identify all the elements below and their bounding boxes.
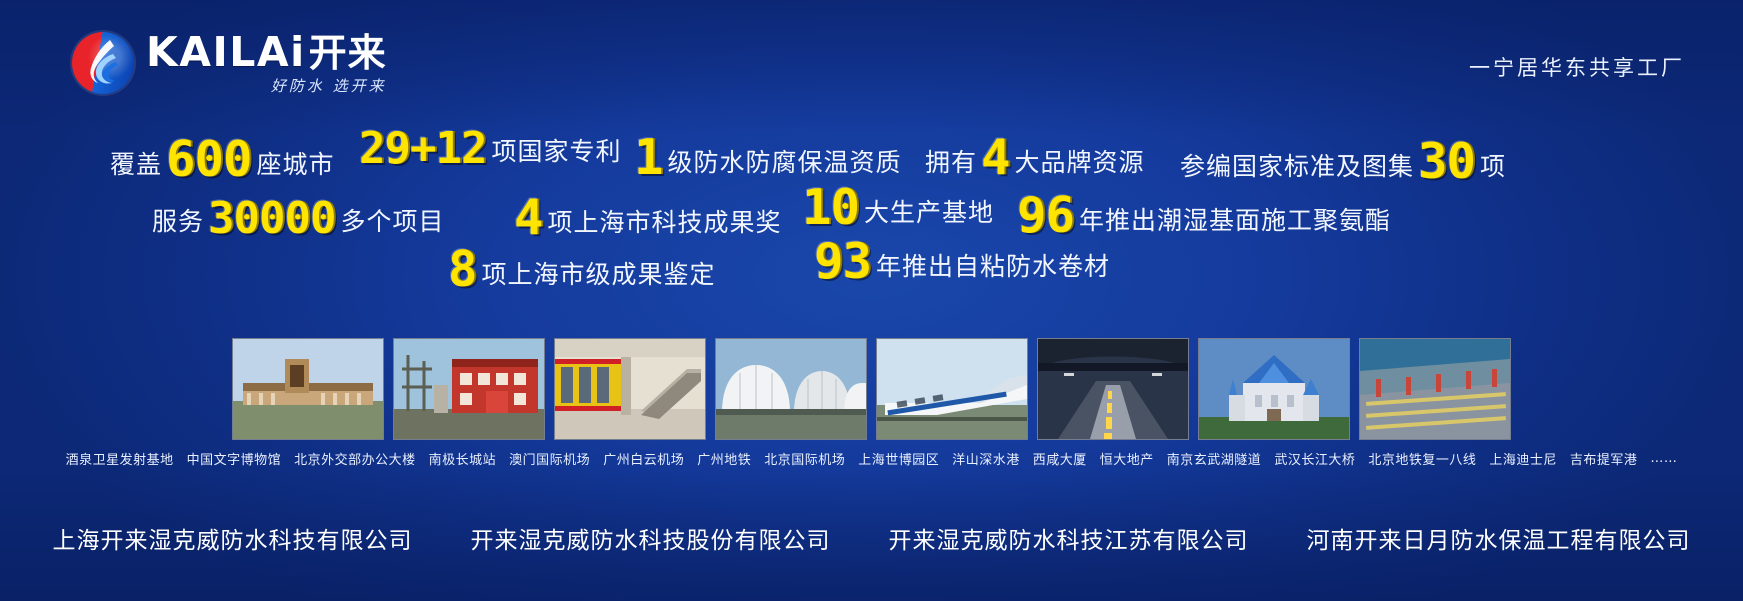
thumbnail-row (0, 338, 1743, 440)
project-caption: 洋山深水港 (952, 449, 1020, 468)
stat-number: 1 (632, 133, 665, 182)
project-caption: 上海迪士尼 (1489, 449, 1557, 468)
stat-suffix: 年推出自粘防水卷材 (876, 247, 1110, 283)
stat-number: 96 (1015, 191, 1076, 240)
stat-item: 29+12项国家专利 (357, 124, 621, 168)
project-caption: 酒泉卫星发射基地 (66, 449, 174, 468)
logo-swoosh-icon (80, 38, 126, 88)
project-thumbnail-disney-castle (1198, 338, 1350, 440)
project-caption: 吉布提军港 (1570, 449, 1638, 468)
stat-suffix: 年推出潮湿基面施工聚氨酯 (1079, 201, 1391, 237)
project-caption: 恒大地产 (1100, 449, 1154, 468)
disney-castle-icon (1199, 339, 1349, 439)
stat-prefix: 覆盖 (110, 145, 162, 181)
high-speed-train-icon (877, 339, 1027, 439)
stat-suffix: 项 (1480, 147, 1506, 183)
stat-item: 参编国家标准及图集30项 (1180, 134, 1506, 183)
company-footer: 上海开来湿克威防水科技有限公司开来湿克威防水科技股份有限公司开来湿克威防水科技江… (0, 521, 1743, 555)
stat-item: 96年推出潮湿基面施工聚氨酯 (1015, 188, 1391, 237)
brand-name-cn: 开来 (309, 34, 387, 72)
stat-number: 4 (979, 133, 1012, 182)
stat-suffix: 项国家专利 (491, 132, 621, 168)
stat-number: 600 (164, 135, 254, 184)
stat-suffix: 级防水防腐保温资质 (668, 143, 902, 179)
stat-number: 29+12 (357, 127, 488, 171)
company-name: 开来湿克威防水科技股份有限公司 (471, 521, 831, 555)
project-gallery: 酒泉卫星发射基地中国文字博物馆北京外交部办公大楼南极长城站澳门国际机场广州白云机… (0, 338, 1743, 468)
company-name: 上海开来湿克威防水科技有限公司 (53, 521, 413, 555)
project-caption: 广州地铁 (697, 449, 751, 468)
project-caption: 北京国际机场 (764, 449, 845, 468)
airport-terminal-roof-icon (716, 339, 866, 439)
project-caption: 南极长城站 (429, 449, 497, 468)
stat-prefix: 拥有 (925, 143, 977, 179)
kailai-circle-logo-icon (72, 32, 134, 94)
brand-name-latin: KAILAi (146, 32, 306, 73)
subway-station-platform-icon (555, 339, 705, 439)
project-thumbnail-jiuquan-satellite-base (232, 338, 384, 440)
stat-number: 10 (800, 183, 861, 232)
stat-item: 覆盖600座城市 (110, 132, 335, 181)
stat-item: 93年推出自粘防水卷材 (812, 234, 1110, 283)
project-thumbnail-high-speed-train (876, 338, 1028, 440)
project-thumbnail-airport-terminal-roof (715, 338, 867, 440)
stat-suffix: 座城市 (257, 145, 335, 181)
stat-item: 拥有4大品牌资源 (925, 130, 1145, 179)
project-caption: 南京玄武湖隧道 (1167, 449, 1262, 468)
promo-banner: KAILAi 开来 好防水 选开来 一宁居华东共享工厂 覆盖600座城市29+1… (0, 0, 1743, 601)
project-thumbnail-deepwater-port (1359, 338, 1511, 440)
stat-number: 30 (1416, 137, 1477, 186)
project-caption: 北京外交部办公大楼 (294, 449, 416, 468)
stat-suffix: 项上海市科技成果奖 (548, 203, 782, 239)
project-thumbnail-red-industrial-building (393, 338, 545, 440)
project-thumbnail-subway-station-platform (554, 338, 706, 440)
brand-logo[interactable]: KAILAi 开来 好防水 选开来 (72, 32, 387, 94)
stat-suffix: 多个项目 (340, 202, 444, 238)
banner-header: KAILAi 开来 好防水 选开来 一宁居华东共享工厂 (0, 0, 1743, 105)
project-caption: …… (1650, 451, 1677, 466)
stat-prefix: 服务 (152, 202, 204, 238)
project-caption: 广州白云机场 (603, 449, 684, 468)
stat-item: 4项上海市科技成果奖 (512, 190, 782, 239)
factory-tag: 一宁居华东共享工厂 (1469, 52, 1685, 82)
stat-suffix: 大品牌资源 (1015, 143, 1145, 179)
jiuquan-satellite-base-icon (233, 339, 383, 439)
brand-slogan: 好防水 选开来 (146, 79, 387, 94)
project-caption: 北京地铁复一八线 (1368, 449, 1476, 468)
stat-prefix: 参编国家标准及图集 (1180, 147, 1414, 183)
stat-number: 4 (512, 193, 545, 242)
stat-suffix: 大生产基地 (864, 193, 994, 229)
stat-item: 服务30000多个项目 (152, 194, 444, 238)
brand-logo-text: KAILAi 开来 好防水 选开来 (146, 32, 387, 94)
project-caption: 武汉长江大桥 (1274, 449, 1355, 468)
stats-group: 覆盖600座城市29+12项国家专利1级防水防腐保温资质拥有4大品牌资源参编国家… (0, 104, 1743, 294)
red-industrial-building-icon (394, 339, 544, 439)
stat-number: 8 (446, 245, 479, 294)
stat-item: 1级防水防腐保温资质 (632, 130, 902, 179)
company-name: 开来湿克威防水科技江苏有限公司 (889, 521, 1249, 555)
stat-item: 10大生产基地 (800, 180, 994, 229)
stat-number: 30000 (206, 197, 337, 241)
project-thumbnail-highway-tunnel (1037, 338, 1189, 440)
highway-tunnel-icon (1038, 339, 1188, 439)
project-caption-row: 酒泉卫星发射基地中国文字博物馆北京外交部办公大楼南极长城站澳门国际机场广州白云机… (0, 449, 1743, 468)
company-name: 河南开来日月防水保温工程有限公司 (1307, 521, 1691, 555)
stat-suffix: 项上海市级成果鉴定 (482, 255, 716, 291)
project-caption: 上海世博园区 (858, 449, 939, 468)
project-caption: 澳门国际机场 (509, 449, 590, 468)
project-caption: 西咸大厦 (1033, 449, 1087, 468)
stat-number: 93 (812, 237, 873, 286)
project-caption: 中国文字博物馆 (187, 449, 282, 468)
stat-item: 8项上海市级成果鉴定 (446, 242, 716, 291)
deepwater-port-icon (1360, 339, 1510, 439)
